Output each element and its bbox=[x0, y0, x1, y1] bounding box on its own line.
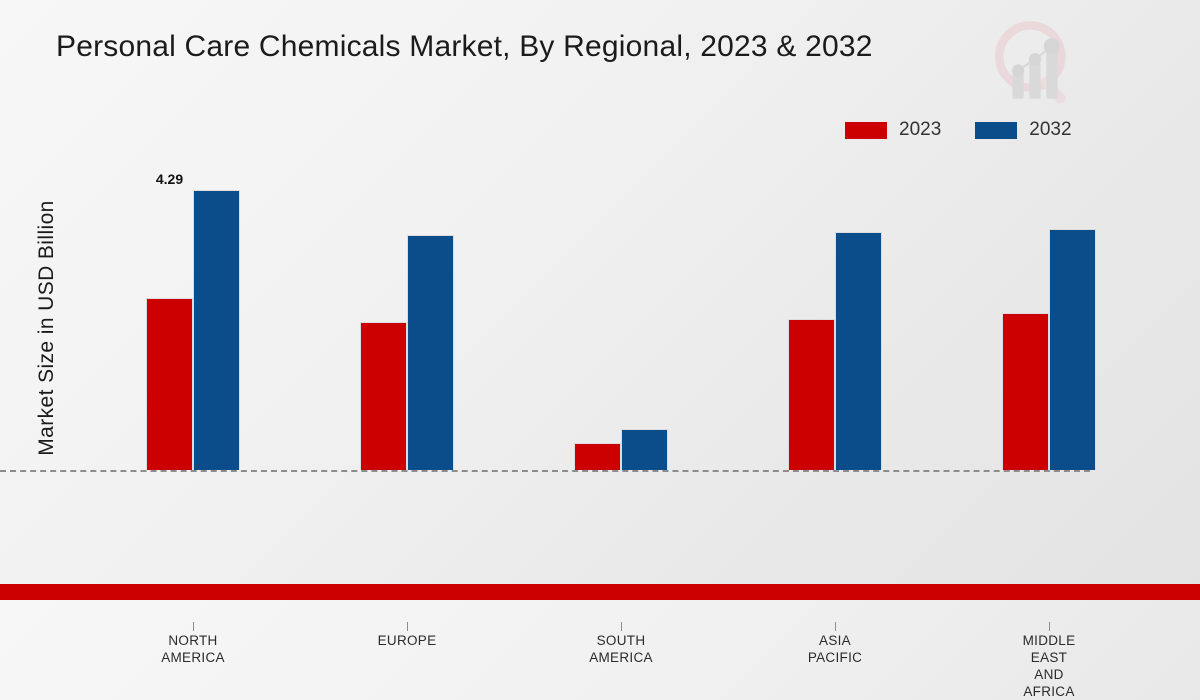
bars bbox=[360, 235, 454, 470]
watermark-logo bbox=[988, 16, 1082, 110]
bar-2023-middle-east-and-africa[interactable] bbox=[1002, 313, 1049, 470]
category-line: AMERICA bbox=[86, 649, 300, 666]
legend-swatch-2032 bbox=[975, 122, 1017, 139]
legend-item-2032[interactable]: 2032 bbox=[975, 119, 1071, 141]
x-axis-tick bbox=[621, 622, 622, 631]
bar-group-north-america: 4.29 NORTH AMERICA bbox=[86, 150, 300, 470]
bar-group-europe: EUROPE bbox=[300, 150, 514, 470]
bar-2032-asia-pacific[interactable] bbox=[835, 232, 882, 470]
category-label-south-america: SOUTH AMERICA bbox=[514, 632, 728, 666]
bars bbox=[788, 232, 882, 470]
category-line: PACIFIC bbox=[728, 649, 942, 666]
category-line: EUROPE bbox=[300, 632, 514, 649]
category-label-europe: EUROPE bbox=[300, 632, 514, 649]
chart-container: Personal Care Chemicals Market, By Regio… bbox=[0, 0, 1200, 600]
bar-2023-europe[interactable] bbox=[360, 322, 407, 470]
legend-label-2023: 2023 bbox=[899, 119, 941, 141]
chart-legend: 2023 2032 bbox=[845, 119, 1072, 141]
bar-2032-europe[interactable] bbox=[407, 235, 454, 470]
category-line: AFRICA bbox=[942, 683, 1156, 700]
bar-2023-asia-pacific[interactable] bbox=[788, 319, 835, 470]
bar-2032-middle-east-and-africa[interactable] bbox=[1049, 229, 1096, 470]
bar-2032-north-america[interactable] bbox=[193, 190, 240, 470]
bars bbox=[574, 429, 668, 470]
y-axis-title: Market Size in USD Billion bbox=[35, 163, 59, 493]
x-axis-baseline bbox=[0, 470, 1090, 472]
bar-group-south-america: SOUTH AMERICA bbox=[514, 150, 728, 470]
footer-strip bbox=[0, 584, 1200, 600]
category-line: SOUTH bbox=[514, 632, 728, 649]
bar-value-label: 4.29 bbox=[146, 171, 193, 187]
category-line: AND bbox=[942, 666, 1156, 683]
bar-groups: 4.29 NORTH AMERICA EUROPE bbox=[86, 150, 1156, 470]
category-line: MIDDLE bbox=[942, 632, 1156, 649]
legend-label-2032: 2032 bbox=[1029, 119, 1071, 141]
category-line: EAST bbox=[942, 649, 1156, 666]
x-axis-tick bbox=[407, 622, 408, 631]
bar-2023-north-america[interactable]: 4.29 bbox=[146, 298, 193, 470]
bars bbox=[1002, 229, 1096, 470]
x-axis-tick bbox=[193, 622, 194, 631]
category-label-middle-east-and-africa: MIDDLE EAST AND AFRICA bbox=[942, 632, 1156, 700]
category-line: AMERICA bbox=[514, 649, 728, 666]
legend-swatch-2023 bbox=[845, 122, 887, 139]
category-line: NORTH bbox=[86, 632, 300, 649]
x-axis-tick bbox=[1049, 622, 1050, 631]
bar-2032-south-america[interactable] bbox=[621, 429, 668, 470]
bar-group-middle-east-and-africa: MIDDLE EAST AND AFRICA bbox=[942, 150, 1156, 470]
chart-title: Personal Care Chemicals Market, By Regio… bbox=[56, 30, 873, 64]
category-label-north-america: NORTH AMERICA bbox=[86, 632, 300, 666]
legend-item-2023[interactable]: 2023 bbox=[845, 119, 941, 141]
bars: 4.29 bbox=[146, 190, 240, 470]
x-axis-tick bbox=[835, 622, 836, 631]
category-line: ASIA bbox=[728, 632, 942, 649]
bar-2023-south-america[interactable] bbox=[574, 443, 621, 470]
bar-group-asia-pacific: ASIA PACIFIC bbox=[728, 150, 942, 470]
category-label-asia-pacific: ASIA PACIFIC bbox=[728, 632, 942, 666]
